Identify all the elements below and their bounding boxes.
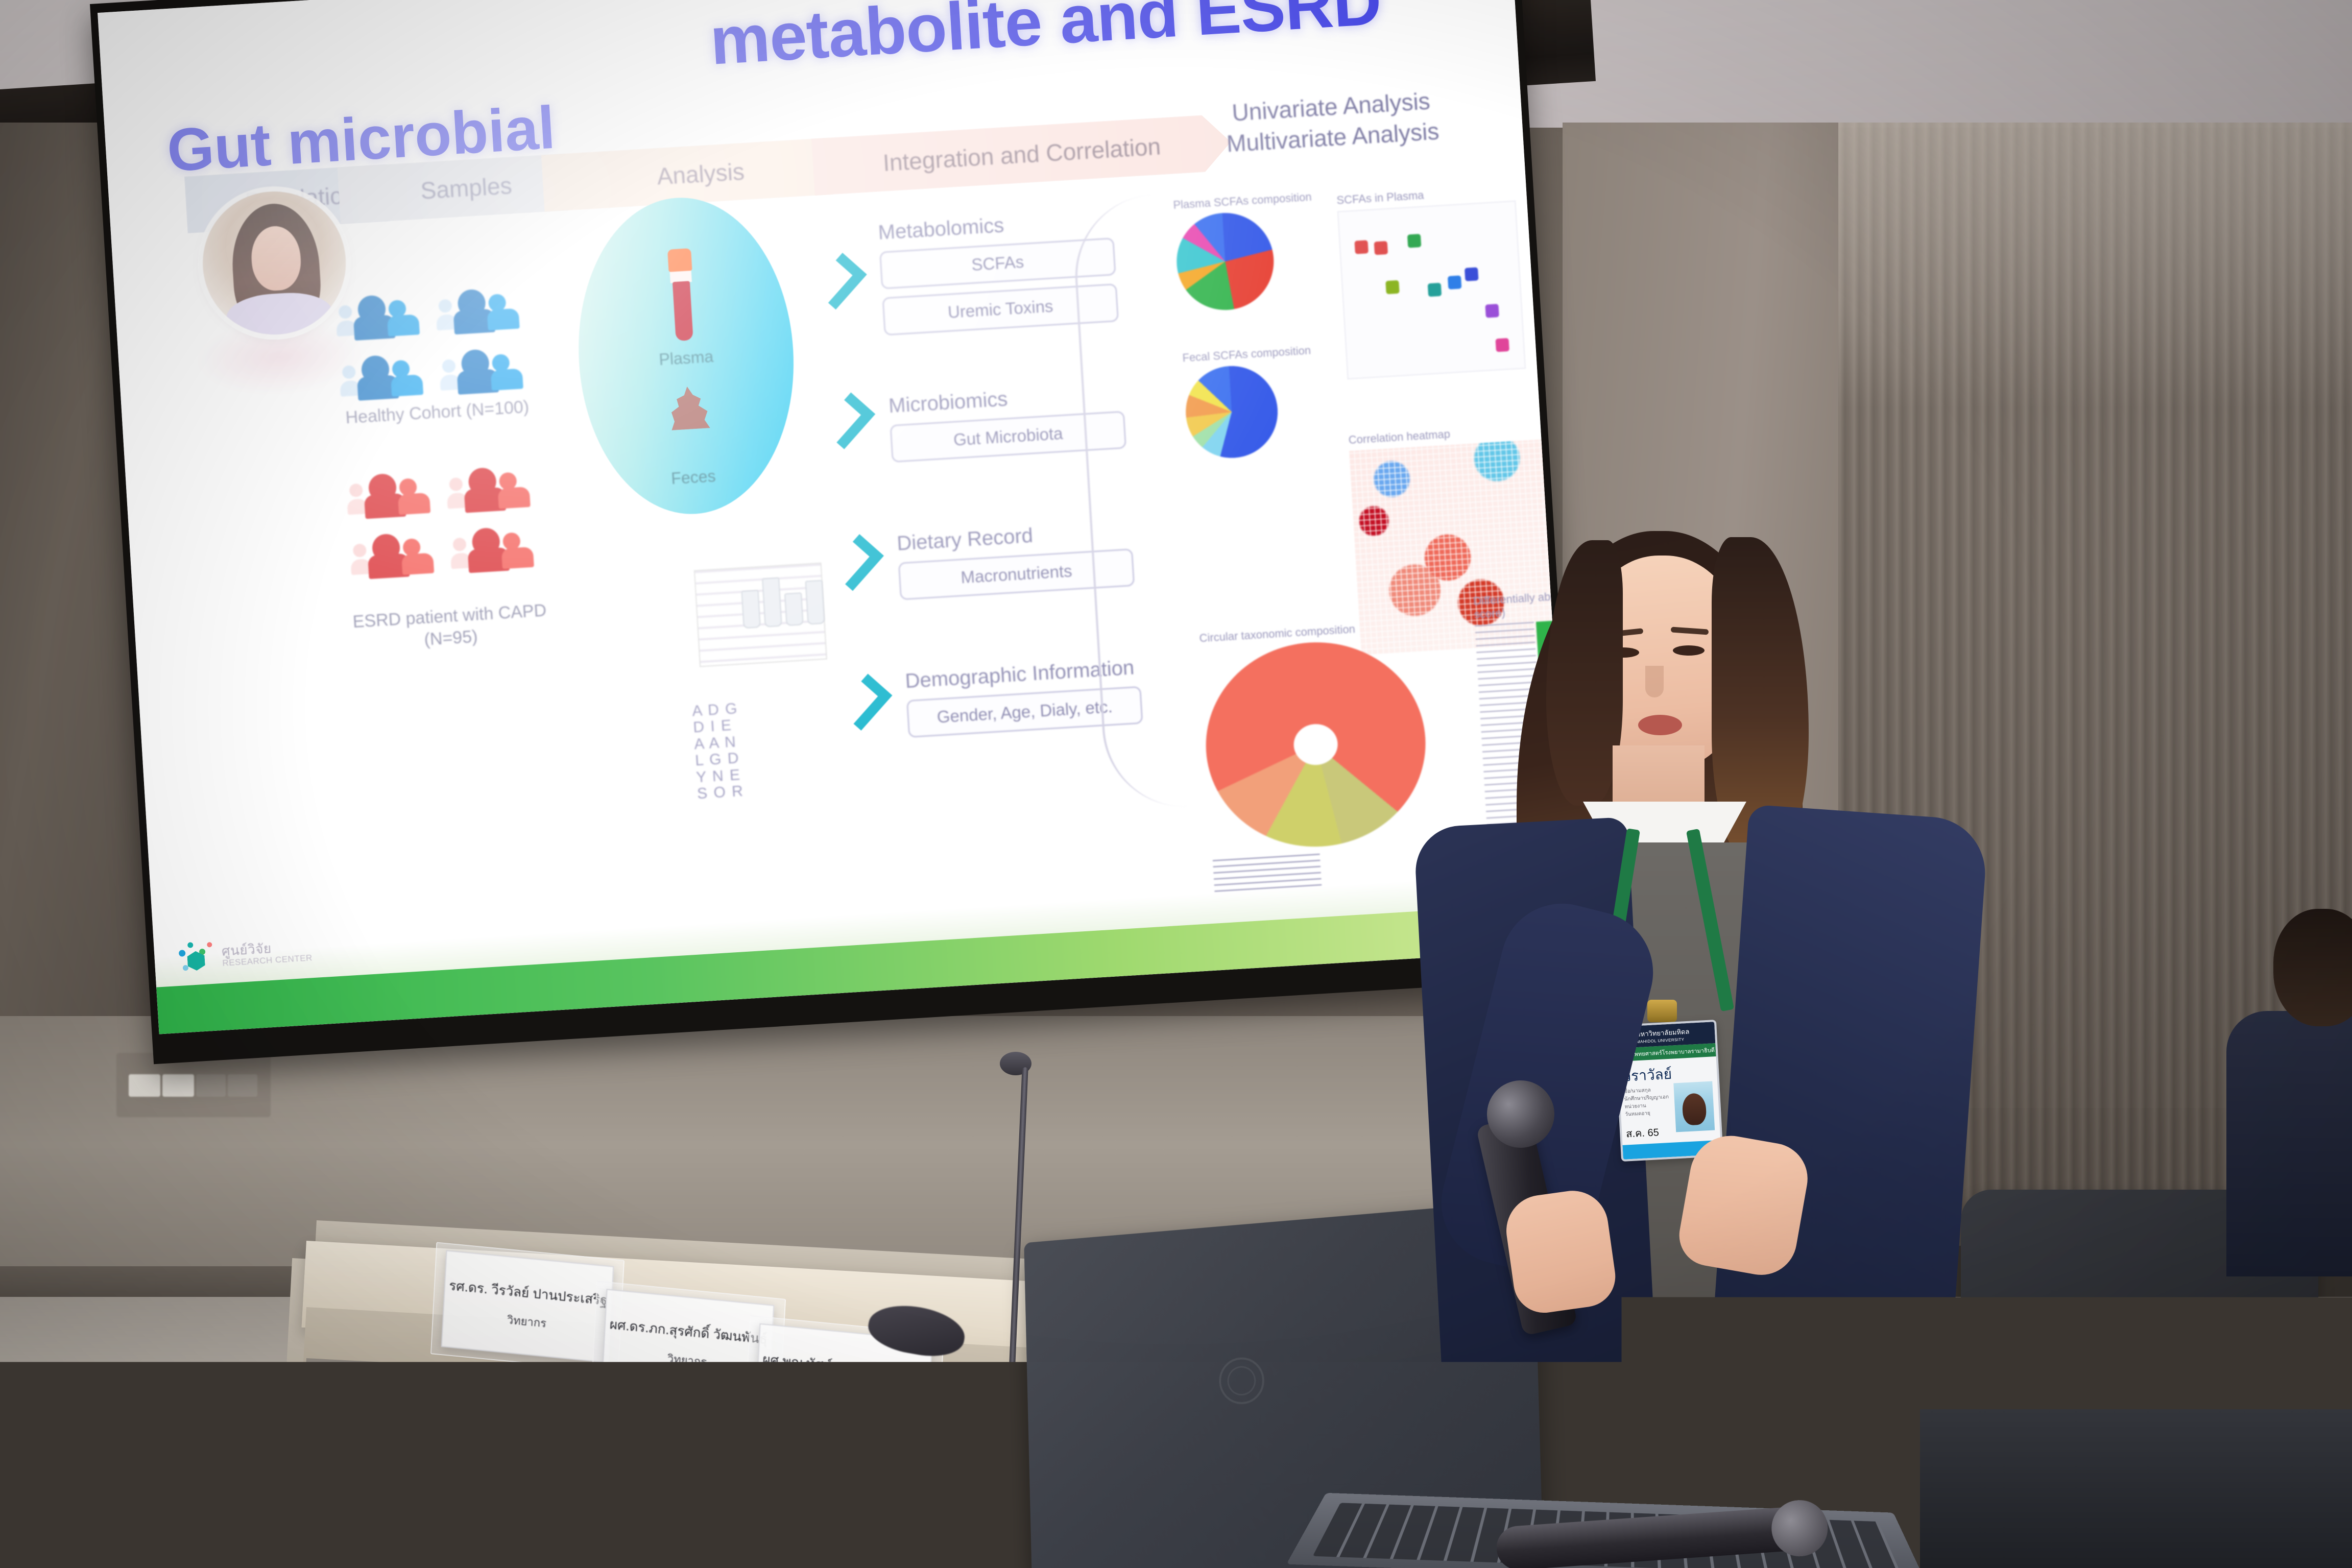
pie-chart	[1183, 364, 1281, 461]
name-card: รศ.ดร. วีรวัลย์ ปานประเสริฐ วิทยากร	[441, 1250, 614, 1363]
figure-pie-lower: Fecal SCFAs composition	[1182, 344, 1317, 461]
presentation-slide: metabolite and ESRD Gut microbial Popula…	[98, 0, 1572, 1034]
presenter-hair-front-left	[1546, 540, 1623, 806]
figure-caption: Fecal SCFAs composition	[1182, 344, 1311, 365]
cohort-label-esrd: ESRD patient with CAPD (N=95)	[340, 599, 561, 656]
integration-heading: Univariate Analysis Multivariate Analysi…	[1136, 80, 1527, 164]
projection-screen: metabolite and ESRD Gut microbial Popula…	[90, 0, 1581, 1064]
badge-expiry-value: ส.ค. 65	[1625, 1124, 1659, 1142]
pie-chart	[1174, 210, 1277, 313]
name-card-name: ผศ.พญ.ทัศน์พรรณ ศรีทองกุล	[762, 1349, 926, 1386]
second-attendee-head	[2273, 909, 2352, 1026]
donut-chart	[1200, 636, 1431, 853]
analysis-title: Metabolomics	[877, 207, 1113, 245]
blood-tube-icon	[665, 248, 699, 342]
chevron-right-icon	[837, 674, 893, 731]
figure-pie-upper: Plasma SCFAs composition	[1173, 190, 1318, 313]
cohort-icons-healthy	[334, 281, 527, 402]
name-card-role: วิทยากร	[507, 1311, 547, 1332]
demographic-letters: A D G D I E A A N L G D Y N E S O R	[692, 695, 835, 802]
name-card-name: ผศ.ดร.ภก.สุรศักดิ์ วัฒนพันธุ์	[609, 1314, 768, 1350]
chevron-right-icon	[828, 534, 884, 591]
conference-presentation-scene: metabolite and ESRD Gut microbial Popula…	[0, 0, 2352, 1568]
screen-surface: metabolite and ESRD Gut microbial Popula…	[98, 0, 1572, 1034]
wall-control-panel[interactable]	[116, 1053, 271, 1117]
name-card-role: วิทยากร	[667, 1349, 707, 1371]
name-card-name: รศ.ดร. วีรวัลย์ ปานประเสริฐ	[448, 1275, 608, 1311]
power-outlet-icon	[15, 1409, 51, 1442]
figure-caption: Plasma SCFAs composition	[1173, 190, 1312, 212]
measuring-cups-icon	[739, 558, 825, 629]
presenter-left-hand	[1502, 1186, 1619, 1317]
wall-light-wash	[1749, 123, 2352, 408]
second-attendee-body	[2226, 1011, 2352, 1276]
dell-logo-icon	[1218, 1357, 1265, 1405]
chevron-right-icon	[811, 253, 867, 309]
figure-caption: Circular taxonomic composition	[1199, 619, 1419, 645]
name-card-role: วิทยากร	[823, 1385, 863, 1406]
slide-title-main: metabolite and ESRD	[196, 0, 1475, 110]
figure-scatter-1: SCFAs in Plasma	[1336, 183, 1526, 379]
molecule-network-icon	[176, 939, 218, 976]
cohort-icons-esrd	[345, 460, 538, 581]
lanyard-clip-icon	[1647, 1000, 1677, 1022]
scatter-plot	[1337, 201, 1526, 379]
badge-photo	[1673, 1081, 1715, 1132]
presenter: มหาวิทยาลัยมหิดล MAHIDOL UNIVERSITY คณะแ…	[1399, 516, 2002, 1567]
logo-text: ศูนย์วิจัย RESEARCH CENTER	[221, 939, 313, 968]
chevron-right-icon	[820, 393, 875, 449]
